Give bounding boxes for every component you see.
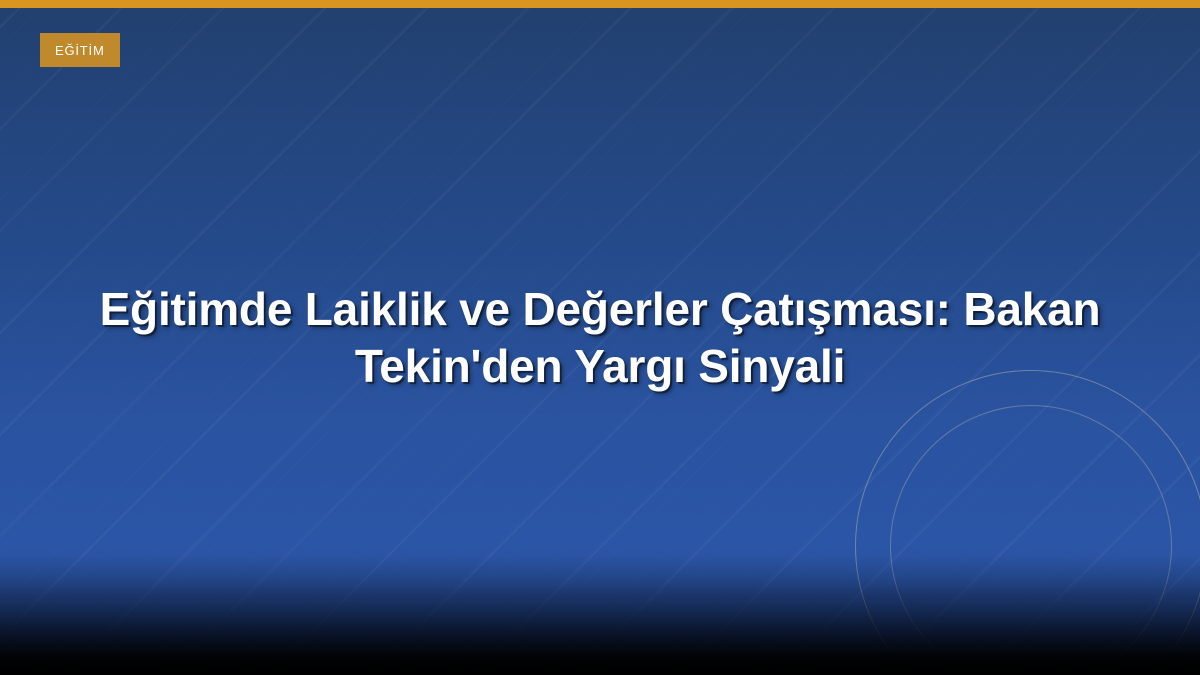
headline-container: Eğitimde Laiklik ve Değerler Çatışması: … (0, 0, 1200, 675)
news-hero-card: EĞİTİM Eğitimde Laiklik ve Değerler Çatı… (0, 0, 1200, 675)
page-title: Eğitimde Laiklik ve Değerler Çatışması: … (78, 281, 1122, 393)
category-badge[interactable]: EĞİTİM (40, 33, 120, 67)
top-accent-bar (0, 0, 1200, 8)
